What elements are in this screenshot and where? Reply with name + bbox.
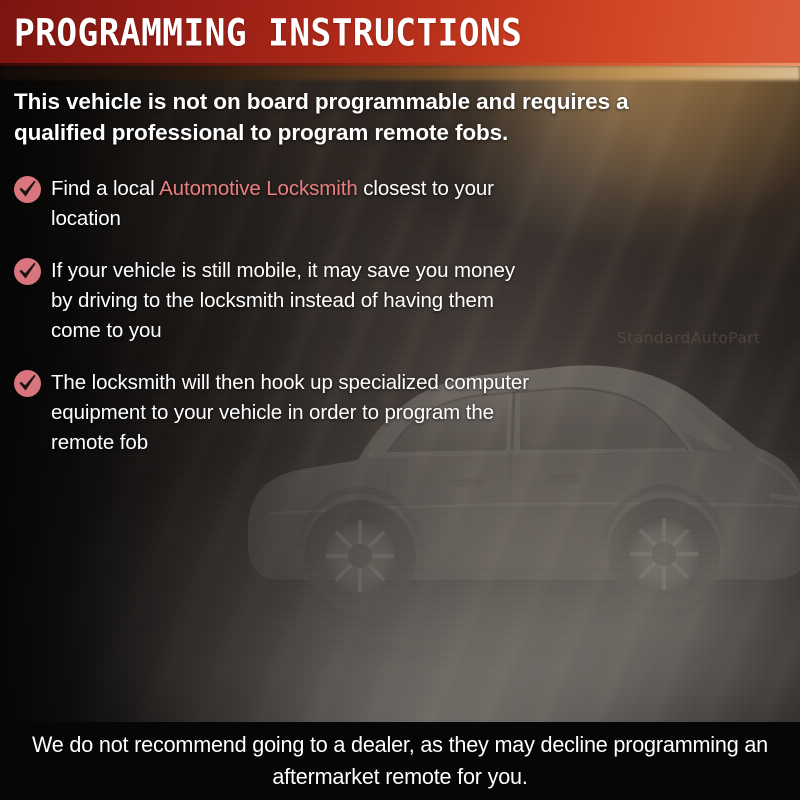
list-item: If your vehicle is still mobile, it may … xyxy=(14,256,534,346)
lead-paragraph: This vehicle is not on board programmabl… xyxy=(14,86,724,148)
list-item-text-before: Find a local xyxy=(51,177,159,200)
check-circle-icon xyxy=(14,176,41,203)
list-item: Find a local Automotive Locksmith closes… xyxy=(14,174,534,234)
check-circle-icon xyxy=(14,370,41,397)
header-bar: PROGRAMMING INSTRUCTIONS xyxy=(0,0,800,66)
check-circle-icon xyxy=(14,258,41,285)
content-area: This vehicle is not on board programmabl… xyxy=(0,66,800,722)
automotive-locksmith-link[interactable]: Automotive Locksmith xyxy=(159,177,358,200)
list-item: The locksmith will then hook up speciali… xyxy=(14,368,534,458)
footer-bar: We do not recommend going to a dealer, a… xyxy=(0,722,800,800)
programming-instructions-poster: PROGRAMMING INSTRUCTIONS StandardAutoPar… xyxy=(0,0,800,800)
list-item-text: Find a local Automotive Locksmith closes… xyxy=(51,174,534,234)
footer-note: We do not recommend going to a dealer, a… xyxy=(16,729,784,793)
list-item-text: If your vehicle is still mobile, it may … xyxy=(51,256,534,346)
page-title: PROGRAMMING INSTRUCTIONS xyxy=(14,12,522,55)
list-item-text: The locksmith will then hook up speciali… xyxy=(51,368,534,458)
watermark-text: StandardAutoPart xyxy=(617,329,761,347)
bullet-list: Find a local Automotive Locksmith closes… xyxy=(14,174,534,458)
